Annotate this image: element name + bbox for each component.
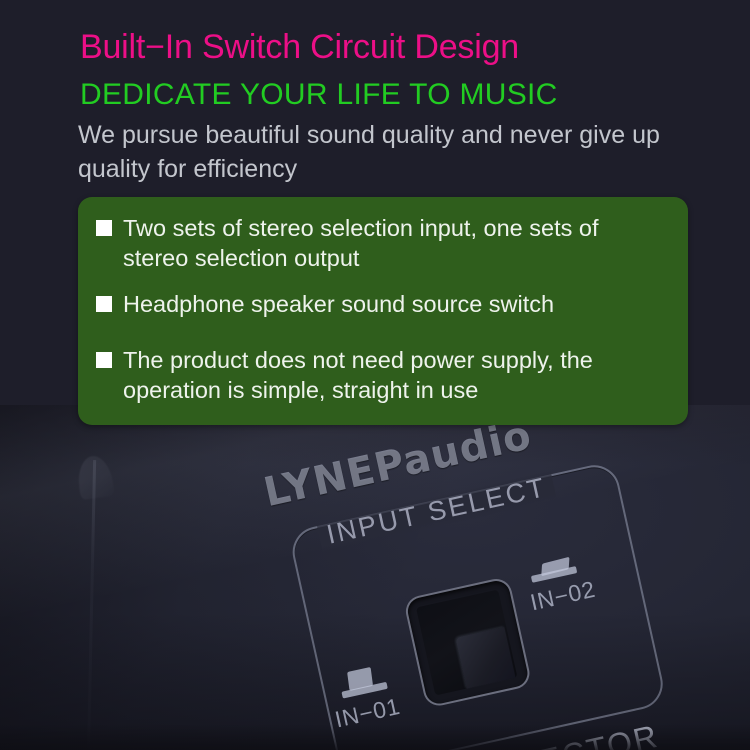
brand-logo-upper: LYNEP: [260, 440, 409, 516]
list-item: The product does not need power supply, …: [96, 345, 670, 405]
feature-list-box: Two sets of stereo selection input, one …: [78, 197, 688, 425]
feature-text: The product does not need power supply, …: [123, 345, 670, 405]
list-item: Headphone speaker sound source switch: [96, 289, 670, 319]
feature-list: Two sets of stereo selection input, one …: [96, 213, 670, 405]
square-bullet-icon: [96, 220, 112, 236]
feature-text: Two sets of stereo selection input, one …: [123, 213, 670, 273]
rocker-toggle[interactable]: [416, 589, 517, 695]
product-photo: LYNEPaudio INPUT SELECT IN−01 IN−02 NAL …: [0, 405, 750, 750]
page-subtitle: DEDICATE YOUR LIFE TO MUSIC: [80, 78, 558, 112]
square-bullet-icon: [96, 352, 112, 368]
page-description: We pursue beautiful sound quality and ne…: [78, 118, 698, 186]
page-title: Built−In Switch Circuit Design: [80, 28, 519, 67]
feature-text: Headphone speaker sound source switch: [123, 289, 670, 319]
square-bullet-icon: [96, 296, 112, 312]
product-marketing-image: LYNEPaudio INPUT SELECT IN−01 IN−02 NAL …: [0, 0, 750, 750]
list-item: Two sets of stereo selection input, one …: [96, 213, 670, 273]
